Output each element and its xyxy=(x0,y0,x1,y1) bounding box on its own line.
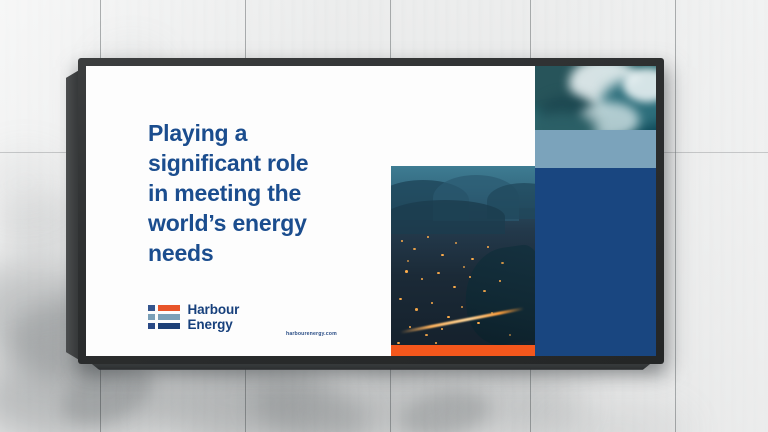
website-url: harbourenergy.com xyxy=(286,331,337,337)
orange-accent-bar xyxy=(391,345,535,356)
logo-mark-bar xyxy=(158,323,180,330)
display-bezel: Playing a significant role in meeting th… xyxy=(78,58,664,364)
logo-mark-row xyxy=(148,314,180,321)
logo-mark-row xyxy=(148,305,180,312)
logo-wordmark: Harbour Energy xyxy=(188,302,240,332)
logo-word-line1: Harbour xyxy=(188,302,240,317)
right-panel-column xyxy=(535,66,656,356)
steel-blue-band xyxy=(535,130,656,168)
logo-mark-square xyxy=(148,323,155,330)
wave-photograph xyxy=(535,66,656,130)
logo-mark-row xyxy=(148,323,180,330)
logo-mark-square xyxy=(148,314,155,321)
city-lights xyxy=(391,166,535,356)
logo-mark-bar xyxy=(158,305,180,312)
slide-headline: Playing a significant role in meeting th… xyxy=(148,119,398,268)
presentation-slide: Playing a significant role in meeting th… xyxy=(86,66,656,356)
navy-block xyxy=(535,168,656,356)
logo-mark-square xyxy=(148,305,155,312)
harbour-energy-logo: Harbour Energy xyxy=(148,302,239,332)
logo-word-line2: Energy xyxy=(188,317,240,332)
city-photograph xyxy=(391,166,535,356)
signage-display: Playing a significant role in meeting th… xyxy=(78,58,664,364)
screenshot-stage: Playing a significant role in meeting th… xyxy=(0,0,768,432)
logo-mark-bar xyxy=(158,314,180,321)
display-screen: Playing a significant role in meeting th… xyxy=(86,66,656,356)
logo-mark-icon xyxy=(148,305,180,330)
